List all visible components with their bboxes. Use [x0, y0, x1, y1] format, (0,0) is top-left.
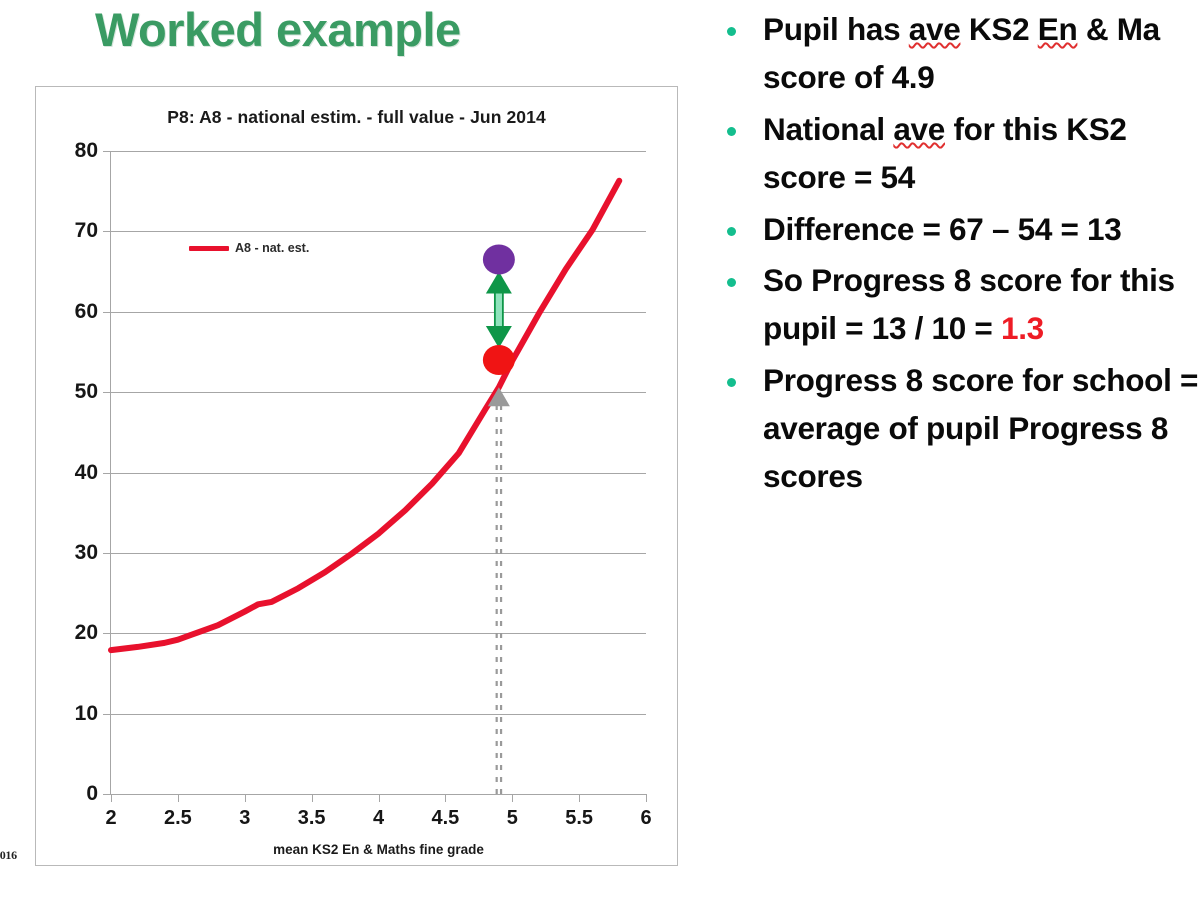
x-tick-mark	[312, 794, 313, 802]
y-tick-mark	[103, 231, 111, 232]
bullet-list: Pupil has ave KS2 En & Ma score of 4.9Na…	[708, 0, 1200, 920]
bullet-dot-icon	[727, 127, 736, 136]
x-axis-title: mean KS2 En & Maths fine grade	[273, 842, 484, 857]
x-tick-label: 6	[640, 807, 651, 830]
legend-swatch-a8	[189, 246, 229, 251]
y-tick-label: 60	[75, 300, 98, 324]
x-tick-mark	[111, 794, 112, 802]
legend-label-a8: A8 - nat. est.	[235, 241, 309, 255]
difference-arrow-head-up	[486, 272, 512, 294]
bullet-progress8-school-text: Progress 8 score for school = average of…	[763, 357, 1200, 501]
x-tick-mark	[579, 794, 580, 802]
bullet-pupil-score: Pupil has ave KS2 En & Ma score of 4.9	[708, 6, 1200, 102]
y-tick-label: 30	[75, 541, 98, 565]
left-panel: Worked example P8: A8 - national estim. …	[0, 0, 700, 920]
bullet-progress8-school: Progress 8 score for school = average of…	[708, 357, 1200, 501]
x-tick-mark	[245, 794, 246, 802]
x-tick-mark	[512, 794, 513, 802]
x-tick-label: 5.5	[565, 807, 593, 830]
y-tick-label: 20	[75, 621, 98, 645]
bullet-dot-icon	[727, 227, 736, 236]
y-tick-mark	[103, 633, 111, 634]
bullet-national-ave: National ave for this KS2 score = 54	[708, 106, 1200, 202]
bullet-dot-icon	[727, 27, 736, 36]
y-tick-mark	[103, 553, 111, 554]
x-tick-mark	[646, 794, 647, 802]
pupil-score-marker	[483, 245, 515, 275]
x-tick-mark	[445, 794, 446, 802]
chart-title: P8: A8 - national estim. - full value - …	[36, 107, 677, 128]
bullet-difference: Difference = 67 – 54 = 13	[708, 206, 1200, 254]
chart-legend: A8 - nat. est.	[189, 241, 309, 255]
y-tick-label: 50	[75, 380, 98, 404]
y-tick-label: 10	[75, 702, 98, 726]
highlighted-value: 1.3	[1001, 310, 1044, 346]
spellcheck-underlined-word: ave	[909, 11, 961, 47]
difference-arrow-head-down	[486, 326, 512, 348]
national-estimate-marker	[483, 345, 515, 375]
chart-plot-area: 01020304050607080 22.533.544.555.56 mean…	[111, 151, 646, 794]
page-title: Worked example	[95, 2, 615, 57]
spellcheck-underlined-word: ave	[893, 111, 945, 147]
spellcheck-underlined-word: En	[1038, 11, 1078, 47]
y-tick-mark	[103, 312, 111, 313]
y-tick-mark	[103, 473, 111, 474]
slide-footer-note: 2016	[0, 848, 17, 863]
y-tick-mark	[103, 392, 111, 393]
y-tick-label: 70	[75, 219, 98, 243]
y-tick-label: 80	[75, 139, 98, 163]
bullet-progress8-pupil: So Progress 8 score for this pupil = 13 …	[708, 257, 1200, 353]
x-tick-label: 4	[373, 807, 384, 830]
bullet-pupil-score-text: Pupil has ave KS2 En & Ma score of 4.9	[763, 6, 1200, 102]
x-tick-label: 4.5	[431, 807, 459, 830]
x-tick-label: 2	[105, 807, 116, 830]
y-tick-label: 40	[75, 461, 98, 485]
y-tick-mark	[103, 794, 111, 795]
bullet-national-ave-text: National ave for this KS2 score = 54	[763, 106, 1200, 202]
x-tick-label: 5	[507, 807, 518, 830]
x-tick-label: 3.5	[298, 807, 326, 830]
y-tick-mark	[103, 151, 111, 152]
x-tick-label: 3	[239, 807, 250, 830]
bullet-progress8-pupil-text: So Progress 8 score for this pupil = 13 …	[763, 257, 1200, 353]
ks2-score-pointer-arrowhead	[488, 387, 510, 406]
bullet-dot-icon	[727, 378, 736, 387]
x-tick-mark	[379, 794, 380, 802]
y-tick-label: 0	[86, 782, 98, 806]
chart-container: P8: A8 - national estim. - full value - …	[35, 86, 678, 866]
y-tick-mark	[103, 714, 111, 715]
bullet-difference-text: Difference = 67 – 54 = 13	[763, 206, 1200, 254]
x-tick-label: 2.5	[164, 807, 192, 830]
bullet-dot-icon	[727, 278, 736, 287]
x-tick-mark	[178, 794, 179, 802]
